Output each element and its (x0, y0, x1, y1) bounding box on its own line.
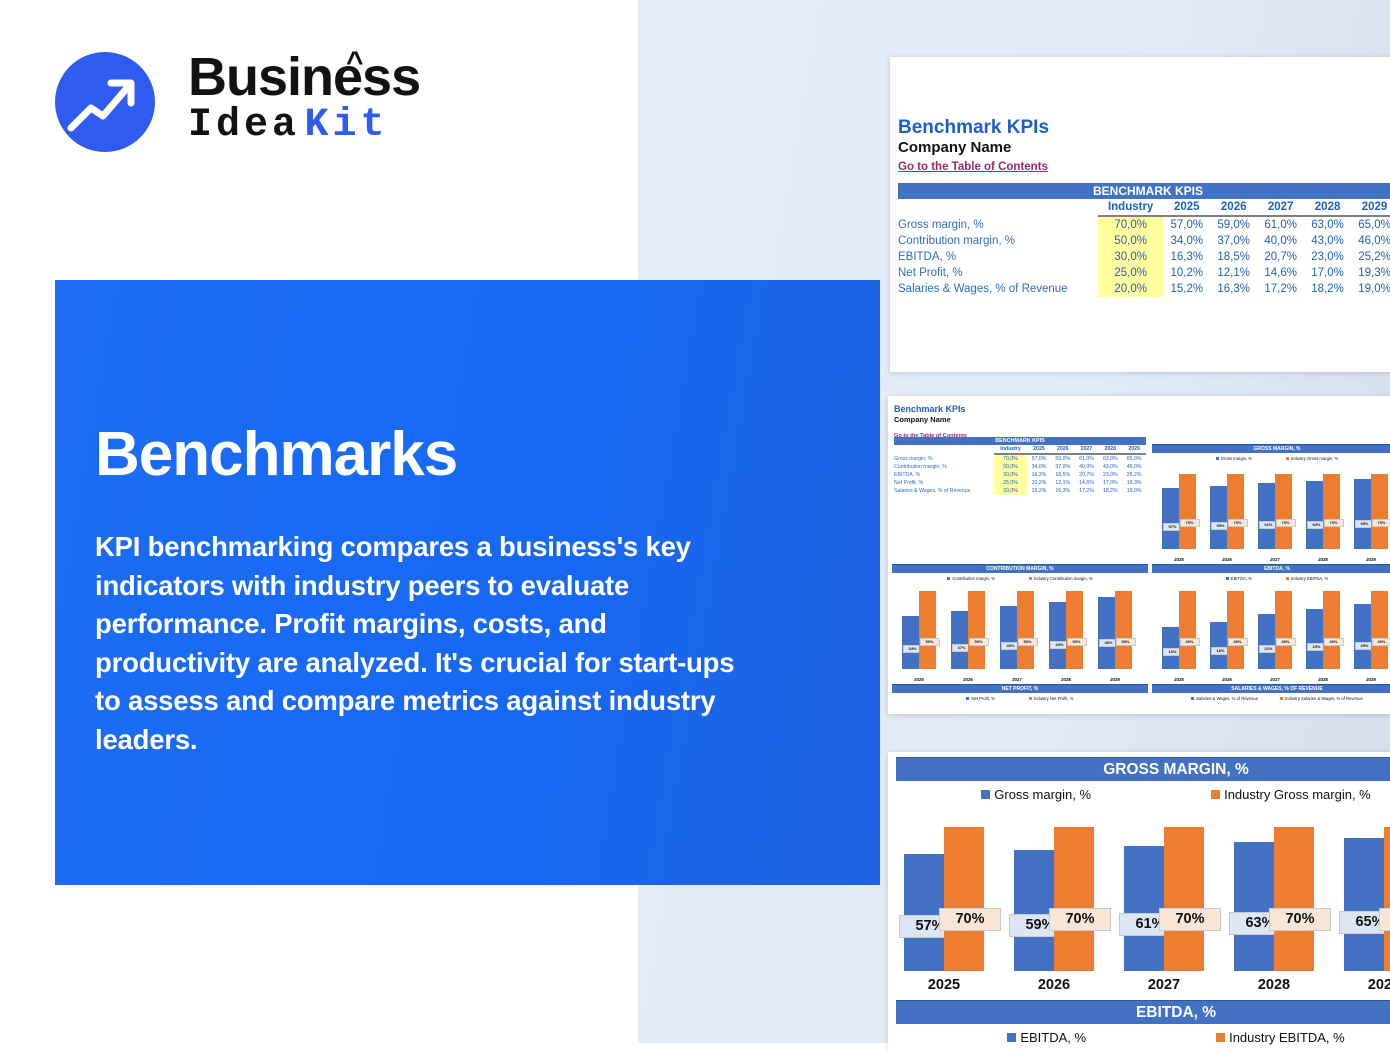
chart-bar[interactable] (1014, 850, 1054, 971)
chart-plot-area: 57%70%202559%70%202661%70%202763%70%2028… (1152, 463, 1390, 563)
table-row: Salaries & Wages, % of Revenue20,0%15,2%… (894, 487, 1146, 495)
legend-label: Industry Gross margin, % (1224, 787, 1371, 802)
value-cell: 25,2% (1122, 471, 1146, 479)
legend-label: EBITDA, % (1231, 576, 1252, 581)
value-cell: 37,0% (1051, 463, 1075, 471)
chart-bar[interactable] (1258, 614, 1275, 669)
chart-bar[interactable] (1179, 591, 1196, 669)
value-cell: 18,5% (1051, 471, 1075, 479)
value-cell: 25,2% (1351, 249, 1390, 265)
chart-data-label: 30% (1276, 638, 1296, 646)
chart-bar[interactable] (1371, 474, 1388, 549)
column-header: 2025 (1163, 199, 1210, 216)
legend-swatch-series (981, 790, 990, 799)
table-row: Net Profit, %25,0%10,2%12,1%14,6%17,0%19… (898, 265, 1390, 281)
value-cell: 17,2% (1075, 487, 1099, 495)
row-label: Net Profit, % (894, 479, 994, 487)
chart-bar[interactable] (902, 616, 919, 669)
chart-title: NET PROFIT, % (892, 684, 1148, 693)
industry-value-cell[interactable]: 50,0% (1098, 233, 1163, 249)
column-header: 2029 (1122, 445, 1146, 454)
value-cell: 57,0% (1163, 216, 1210, 233)
table-row: Salaries & Wages, % of Revenue20,0%15,2%… (898, 281, 1390, 297)
value-cell: 61,0% (1075, 454, 1099, 463)
value-cell: 14,6% (1257, 265, 1304, 281)
row-label: Contribution margin, % (894, 463, 994, 471)
chart-title: GROSS MARGIN, % (896, 757, 1390, 781)
sheet-heading: Benchmark KPIs (898, 117, 1049, 139)
legend-item[interactable]: Industry Net Profit, % (1029, 696, 1074, 701)
chart-legend: Salaries & Wages, % of RevenueIndustry S… (1152, 693, 1390, 703)
chart-bar[interactable] (1227, 591, 1244, 669)
legend-swatch-series (947, 577, 950, 580)
value-cell: 12,1% (1051, 479, 1075, 487)
legend-swatch-industry (1286, 577, 1289, 580)
chart-plot-area: 16%30%202518%30%202621%30%202723%30%2028… (1152, 583, 1390, 683)
industry-value-cell[interactable]: 30,0% (1098, 249, 1163, 265)
chart-data-label: 70% (1049, 908, 1111, 931)
legend-swatch-series (1216, 457, 1219, 460)
legend-swatch-industry (1286, 457, 1289, 460)
chart-bar[interactable] (1234, 842, 1274, 971)
brand-word-business: Business (188, 50, 420, 104)
legend-label: Industry Salaries & Wages, % of Revenue (1285, 696, 1363, 701)
value-cell: 10,2% (1163, 265, 1210, 281)
table-row: Contribution margin, %50,0%34,0%37,0%40,… (894, 463, 1146, 471)
table-row: EBITDA, %30,0%16,3%18,5%20,7%23,0%25,2% (898, 249, 1390, 265)
value-cell: 61,0% (1257, 216, 1304, 233)
legend-item[interactable]: Industry Gross margin, % (1286, 456, 1338, 461)
chart-bar[interactable] (1354, 604, 1371, 669)
chart-bar[interactable] (1371, 591, 1388, 669)
legend-label: Gross margin, % (994, 787, 1091, 802)
chart-x-label: 2026 (957, 677, 979, 682)
row-label: Gross margin, % (898, 216, 1098, 233)
chart-gross-margin-mini: GROSS MARGIN, %Gross margin, %Industry G… (1152, 444, 1390, 562)
chart-bar[interactable] (968, 591, 985, 669)
chart-gross-margin-large: GROSS MARGIN, %Gross margin, %Industry G… (896, 757, 1390, 997)
row-label: Salaries & Wages, % of Revenue (898, 281, 1098, 297)
spreadsheet-panel-top: Benchmark KPIs Company Name Go to the Ta… (890, 57, 1390, 372)
chart-data-label: 30% (1180, 638, 1200, 646)
chart-legend: EBITDA, %Industry EBITDA, % (896, 1024, 1390, 1050)
table-corner-cell (898, 199, 1098, 216)
legend-label: Salaries & Wages, % of Revenue (1196, 696, 1258, 701)
chart-bar[interactable] (1384, 827, 1390, 971)
chart-bar[interactable] (1344, 838, 1384, 971)
table-row: Gross margin, %70,0%57,0%59,0%61,0%63,0%… (898, 216, 1390, 233)
legend-item[interactable]: Salaries & Wages, % of Revenue (1191, 696, 1258, 701)
sheet-heading-mini: Benchmark KPIs (894, 404, 967, 415)
industry-value-cell[interactable]: 25,0% (1098, 265, 1163, 281)
legend-label: Industry EBITDA, % (1229, 1030, 1345, 1045)
column-header: 2026 (1051, 445, 1075, 454)
chart-data-label: 70% (1379, 908, 1390, 931)
chart-bar[interactable] (1210, 486, 1227, 549)
chart-data-label: 70% (1372, 519, 1390, 527)
table-band-row: BENCHMARK KPIS (894, 437, 1146, 445)
legend-label: Industry EBITDA, % (1291, 576, 1328, 581)
legend-item[interactable]: Industry Gross margin, % (1211, 787, 1371, 802)
chart-bar[interactable] (1354, 479, 1371, 549)
chart-title: SALARIES & WAGES, % OF REVENUE (1152, 684, 1390, 693)
chart-data-label: 50% (920, 638, 940, 646)
chart-x-label: 2028 (1055, 677, 1077, 682)
chart-data-label: 30% (1228, 638, 1248, 646)
brand-word-idea: Idea (188, 103, 300, 148)
industry-value-cell[interactable]: 70,0% (994, 454, 1027, 463)
chart-bar[interactable] (1164, 827, 1204, 971)
legend-item[interactable]: Contribution margin, % (947, 576, 995, 581)
column-header: 2027 (1075, 445, 1099, 454)
chart-x-label: 2029 (1360, 677, 1382, 682)
legend-label: Net Profit, % (971, 696, 995, 701)
chart-legend: Contribution margin, %Industry Contribut… (892, 573, 1148, 583)
value-cell: 16,3% (1051, 487, 1075, 495)
value-cell: 18,2% (1304, 281, 1351, 297)
value-cell: 34,0% (1027, 463, 1051, 471)
value-cell: 63,0% (1304, 216, 1351, 233)
kpi-table-body: BENCHMARK KPISIndustry202520262027202820… (898, 183, 1390, 297)
legend-swatch-industry (1216, 1033, 1225, 1042)
chart-x-label: 2026 (1024, 977, 1084, 993)
column-header: 2029 (1351, 199, 1390, 216)
legend-swatch-industry (1029, 697, 1032, 700)
chart-salaries-wages-mini: SALARIES & WAGES, % OF REVENUESalaries &… (1152, 684, 1390, 714)
chart-x-label: 2026 (1216, 557, 1238, 562)
chart-data-label: 30% (1372, 638, 1390, 646)
chart-title: GROSS MARGIN, % (1152, 444, 1390, 453)
value-cell: 15,2% (1163, 281, 1210, 297)
chart-legend: Net Profit, %Industry Net Profit, % (892, 693, 1148, 703)
value-cell: 10,2% (1027, 479, 1051, 487)
table-corner-cell (894, 445, 994, 454)
chart-bar[interactable] (1323, 591, 1340, 669)
chart-contribution-margin-mini: CONTRIBUTION MARGIN, %Contribution margi… (892, 564, 1148, 682)
industry-value-cell[interactable]: 25,0% (994, 479, 1027, 487)
column-header: 2028 (1304, 199, 1351, 216)
chart-data-label: 50% (1018, 638, 1038, 646)
kpi-table-body-mini: BENCHMARK KPISIndustry202520262027202820… (894, 437, 1146, 495)
page-title: Benchmarks (95, 424, 457, 486)
chart-bar[interactable] (1210, 622, 1227, 669)
chart-bar[interactable] (944, 827, 984, 971)
row-label: Gross margin, % (894, 454, 994, 463)
value-cell: 16,3% (1027, 471, 1051, 479)
value-cell: 59,0% (1051, 454, 1075, 463)
value-cell: 40,0% (1257, 233, 1304, 249)
value-cell: 16,3% (1210, 281, 1257, 297)
chart-plot-area: 57%70%202559%70%202661%70%202763%70%2028… (896, 807, 1390, 995)
chart-x-label: 2025 (1168, 557, 1190, 562)
value-cell: 59,0% (1210, 216, 1257, 233)
chart-bar[interactable] (1162, 488, 1179, 549)
industry-value-cell[interactable]: 20,0% (1098, 281, 1163, 297)
value-cell: 17,2% (1257, 281, 1304, 297)
legend-label: Industry Gross margin, % (1291, 456, 1338, 461)
row-label: Net Profit, % (898, 265, 1098, 281)
chart-bar[interactable] (919, 591, 936, 669)
chart-x-label: 2026 (1216, 677, 1238, 682)
value-cell: 17,0% (1098, 479, 1122, 487)
value-cell: 40,0% (1075, 463, 1099, 471)
legend-label: Industry Net Profit, % (1034, 696, 1074, 701)
table-band-title: BENCHMARK KPIS (898, 183, 1390, 199)
legend-swatch-series (1226, 577, 1229, 580)
value-cell: 23,0% (1098, 471, 1122, 479)
chart-bar[interactable] (1066, 591, 1083, 669)
industry-value-cell[interactable]: 30,0% (994, 471, 1027, 479)
column-header: 2028 (1098, 445, 1122, 454)
table-row: EBITDA, %30,0%16,3%18,5%20,7%23,0%25,2% (894, 471, 1146, 479)
chart-legend: Gross margin, %Industry Gross margin, % (1152, 453, 1390, 463)
column-header: 2026 (1210, 199, 1257, 216)
row-label: Contribution margin, % (898, 233, 1098, 249)
chart-data-label: 70% (1180, 519, 1200, 527)
sheet-subheading-mini: Company Name (894, 415, 967, 424)
chart-x-label: 2027 (1134, 977, 1194, 993)
legend-swatch-industry (1280, 697, 1283, 700)
value-cell: 34,0% (1163, 233, 1210, 249)
chart-x-label: 2027 (1264, 677, 1286, 682)
value-cell: 65,0% (1351, 216, 1390, 233)
value-cell: 15,2% (1027, 487, 1051, 495)
legend-swatch-series (1007, 1033, 1016, 1042)
value-cell: 46,0% (1351, 233, 1390, 249)
chart-ebitda-mini: EBITDA, %EBITDA, %Industry EBITDA, %16%3… (1152, 564, 1390, 682)
value-cell: 43,0% (1098, 463, 1122, 471)
column-header: 2027 (1257, 199, 1304, 216)
legend-item[interactable]: EBITDA, % (1007, 1030, 1086, 1045)
benchmark-kpi-table-mini: BENCHMARK KPISIndustry202520262027202820… (894, 437, 1146, 495)
legend-item[interactable]: Gross margin, % (1216, 456, 1252, 461)
legend-swatch-series (966, 697, 969, 700)
chart-bar[interactable] (1258, 483, 1275, 549)
column-header: Industry (1098, 199, 1163, 216)
chart-bar[interactable] (1323, 474, 1340, 549)
chart-data-label: 50% (1067, 638, 1087, 646)
brand-logo: Business ^ Idea Kit (55, 48, 455, 160)
value-cell: 57,0% (1027, 454, 1051, 463)
legend-item[interactable]: Industry EBITDA, % (1216, 1030, 1345, 1045)
chart-x-label: 2029 (1354, 977, 1390, 993)
table-header-row: Industry20252026202720282029 (894, 445, 1146, 454)
chart-bar[interactable] (951, 611, 968, 669)
benchmark-kpi-table: BENCHMARK KPISIndustry202520262027202820… (898, 183, 1390, 297)
chart-data-label: 70% (939, 908, 1001, 931)
chart-x-label: 2025 (1168, 677, 1190, 682)
industry-value-cell[interactable]: 70,0% (1098, 216, 1163, 233)
chart-bar[interactable] (1124, 846, 1164, 971)
column-header: 2025 (1027, 445, 1051, 454)
hero-description: KPI benchmarking compares a business's k… (95, 528, 755, 759)
value-cell: 20,7% (1257, 249, 1304, 265)
table-band-title: BENCHMARK KPIS (894, 437, 1146, 445)
spreadsheet-panel-middle: Benchmark KPIs Company Name Go to the Ta… (888, 396, 1390, 714)
chart-bar[interactable] (1000, 606, 1017, 669)
legend-item[interactable]: Gross margin, % (981, 787, 1091, 802)
value-cell: 37,0% (1210, 233, 1257, 249)
legend-swatch-industry (1029, 577, 1032, 580)
chart-bar[interactable] (1054, 827, 1094, 971)
chart-data-label: 70% (1276, 519, 1296, 527)
value-cell: 43,0% (1304, 233, 1351, 249)
chart-legend: Gross margin, %Industry Gross margin, % (896, 781, 1390, 807)
value-cell: 65,0% (1122, 454, 1146, 463)
value-cell: 46,0% (1122, 463, 1146, 471)
legend-label: EBITDA, % (1020, 1030, 1086, 1045)
value-cell: 19,0% (1122, 487, 1146, 495)
chart-bar[interactable] (1017, 591, 1034, 669)
growth-arrow-icon (55, 52, 155, 152)
sheet-subheading: Company Name (898, 139, 1049, 157)
brand-word-kit: Kit (304, 103, 388, 148)
value-cell: 19,0% (1351, 281, 1390, 297)
row-label: EBITDA, % (898, 249, 1098, 265)
chart-bar[interactable] (1274, 827, 1314, 971)
legend-item[interactable]: Industry Contribution margin, % (1029, 576, 1093, 581)
chart-ebitda-large: EBITDA, %EBITDA, %Industry EBITDA, % (896, 1000, 1390, 1052)
chart-x-label: 2028 (1244, 977, 1304, 993)
table-row: Gross margin, %70,0%57,0%59,0%61,0%63,0%… (894, 454, 1146, 463)
legend-swatch-series (1191, 697, 1194, 700)
chart-data-label: 50% (1116, 638, 1136, 646)
chart-x-label: 2027 (1264, 557, 1286, 562)
legend-item[interactable]: Net Profit, % (966, 696, 995, 701)
table-of-contents-link[interactable]: Go to the Table of Contents (898, 160, 1048, 174)
chart-data-label: 50% (969, 638, 989, 646)
legend-label: Industry Contribution margin, % (1034, 576, 1093, 581)
chart-bar[interactable] (904, 854, 944, 971)
chart-x-label: 2025 (914, 977, 974, 993)
value-cell: 19,3% (1351, 265, 1390, 281)
value-cell: 17,0% (1304, 265, 1351, 281)
chart-x-label: 2028 (1312, 677, 1334, 682)
chart-data-label: 70% (1159, 908, 1221, 931)
value-cell: 20,7% (1075, 471, 1099, 479)
value-cell: 19,3% (1122, 479, 1146, 487)
value-cell: 16,3% (1163, 249, 1210, 265)
chart-title: EBITDA, % (896, 1000, 1390, 1024)
chart-data-label: 70% (1324, 519, 1344, 527)
table-band-row: BENCHMARK KPIS (898, 183, 1390, 199)
value-cell: 14,6% (1075, 479, 1099, 487)
chart-data-label: 30% (1324, 638, 1344, 646)
value-cell: 18,5% (1210, 249, 1257, 265)
chart-x-label: 2029 (1104, 677, 1126, 682)
value-cell: 18,2% (1098, 487, 1122, 495)
chart-x-label: 2025 (908, 677, 930, 682)
chart-title: EBITDA, % (1152, 564, 1390, 573)
chart-x-label: 2028 (1312, 557, 1334, 562)
column-header: Industry (994, 445, 1027, 454)
brand-hat-accent: ^ (346, 48, 364, 78)
row-label: Salaries & Wages, % of Revenue (894, 487, 994, 495)
value-cell: 23,0% (1304, 249, 1351, 265)
brand-line-two: Idea Kit (188, 106, 388, 146)
legend-item[interactable]: Industry EBITDA, % (1286, 576, 1328, 581)
chart-bar[interactable] (1227, 474, 1244, 549)
chart-plot-area: 34%50%202537%50%202640%50%202743%50%2028… (892, 583, 1148, 683)
chart-bar[interactable] (1115, 591, 1132, 669)
legend-item[interactable]: Industry Salaries & Wages, % of Revenue (1280, 696, 1363, 701)
chart-data-label: 70% (1269, 908, 1331, 931)
legend-label: Contribution margin, % (952, 576, 995, 581)
chart-bar[interactable] (1306, 609, 1323, 669)
chart-bar[interactable] (1049, 602, 1066, 669)
chart-data-label: 70% (1228, 519, 1248, 527)
chart-bar[interactable] (1098, 597, 1115, 669)
industry-value-cell[interactable]: 20,0% (994, 487, 1027, 495)
table-row: Net Profit, %25,0%10,2%12,1%14,6%17,0%19… (894, 479, 1146, 487)
industry-value-cell[interactable]: 50,0% (994, 463, 1027, 471)
table-row: Contribution margin, %50,0%34,0%37,0%40,… (898, 233, 1390, 249)
legend-label: Gross margin, % (1221, 456, 1252, 461)
legend-item[interactable]: EBITDA, % (1226, 576, 1252, 581)
chart-bar[interactable] (1275, 474, 1292, 549)
table-header-row: Industry20252026202720282029 (898, 199, 1390, 216)
value-cell: 63,0% (1098, 454, 1122, 463)
chart-x-label: 2027 (1006, 677, 1028, 682)
chart-legend: EBITDA, %Industry EBITDA, % (1152, 573, 1390, 583)
legend-swatch-industry (1211, 790, 1220, 799)
chart-bar[interactable] (1275, 591, 1292, 669)
chart-net-profit-mini: NET PROFIT, %Net Profit, %Industry Net P… (892, 684, 1148, 714)
value-cell: 12,1% (1210, 265, 1257, 281)
chart-title: CONTRIBUTION MARGIN, % (892, 564, 1148, 573)
spreadsheet-panel-bottom: GROSS MARGIN, %Gross margin, %Industry G… (888, 752, 1390, 1052)
chart-bar[interactable] (1179, 474, 1196, 549)
row-label: EBITDA, % (894, 471, 994, 479)
chart-x-label: 2029 (1360, 557, 1382, 562)
chart-bar[interactable] (1306, 481, 1323, 549)
